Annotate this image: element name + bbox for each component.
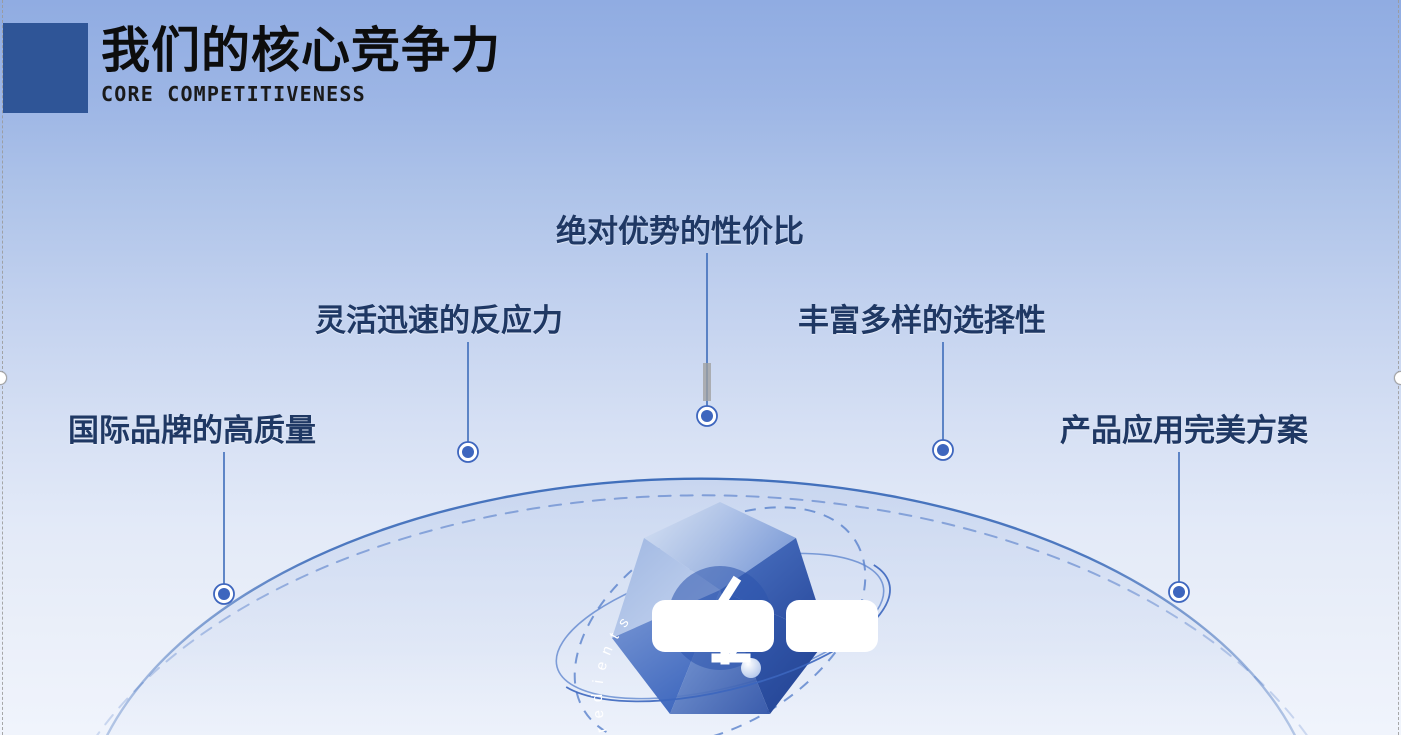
node-dot-3[interactable] (701, 410, 713, 422)
competency-label-2[interactable]: 灵活迅速的反应力 (315, 302, 563, 340)
brand-letter-8: n (598, 643, 617, 657)
competency-label-1[interactable]: 国际品牌的高质量 (68, 412, 316, 450)
competency-label-5[interactable]: 产品应用完美方案 (1060, 412, 1308, 450)
brand-emblem: ingredients (520, 478, 920, 735)
node-dot-4[interactable] (937, 444, 949, 456)
text-caret-artifact (703, 363, 711, 401)
brand-badge (652, 600, 878, 652)
brand-letter-3: r (593, 725, 611, 734)
node-dot-5[interactable] (1173, 586, 1185, 598)
brand-letter-6: i (590, 679, 607, 685)
brand-letter-4: e (590, 709, 608, 720)
slide-canvas: 我们的核心竞争力 CORE COMPETITIVENESS (0, 0, 1401, 735)
competency-label-3[interactable]: 绝对优势的性价比 (556, 213, 804, 251)
node-dot-2[interactable] (462, 446, 474, 458)
brand-letter-5: d (589, 694, 606, 702)
brand-letter-7: e (592, 660, 611, 673)
competency-label-4[interactable]: 丰富多样的选择性 (798, 302, 1046, 340)
node-dot-1[interactable] (218, 588, 230, 600)
